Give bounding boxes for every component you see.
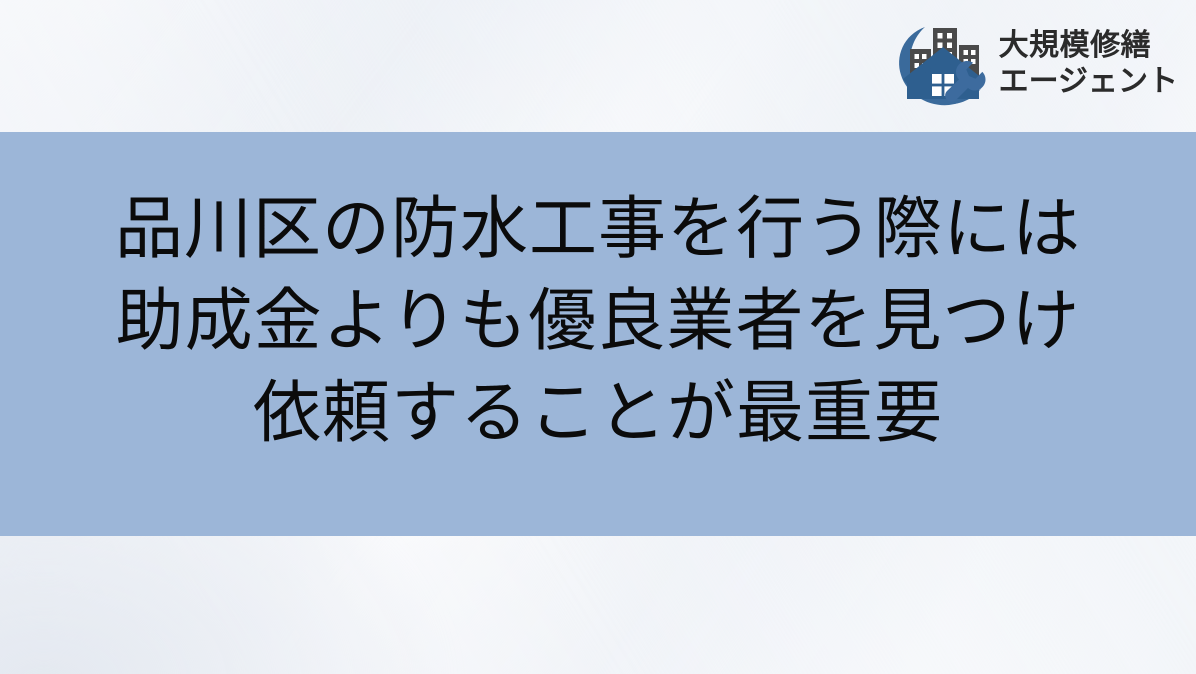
- brand-logo-line-1: 大規模修繕: [999, 31, 1178, 61]
- headline-line-2: 助成金よりも優良業者を見つけ: [0, 276, 1196, 368]
- brand-logo-line-2: エージェント: [999, 67, 1178, 97]
- headline-line-3: 依頼することが最重要: [0, 368, 1196, 460]
- slide-canvas: 大規模修繕 エージェント 品川区の防水工事を行う際には 助成金よりも優良業者を見…: [0, 0, 1196, 674]
- headline-line-1: 品川区の防水工事を行う際には: [0, 184, 1196, 276]
- headline-text: 品川区の防水工事を行う際には 助成金よりも優良業者を見つけ 依頼することが最重要: [0, 184, 1196, 460]
- brand-logo[interactable]: 大規模修繕 エージェント: [895, 17, 1178, 109]
- headline-band: 品川区の防水工事を行う際には 助成金よりも優良業者を見つけ 依頼することが最重要: [0, 132, 1196, 536]
- brand-logo-text: 大規模修繕 エージェント: [999, 29, 1178, 97]
- building-house-wrench-logo-icon: [895, 17, 991, 109]
